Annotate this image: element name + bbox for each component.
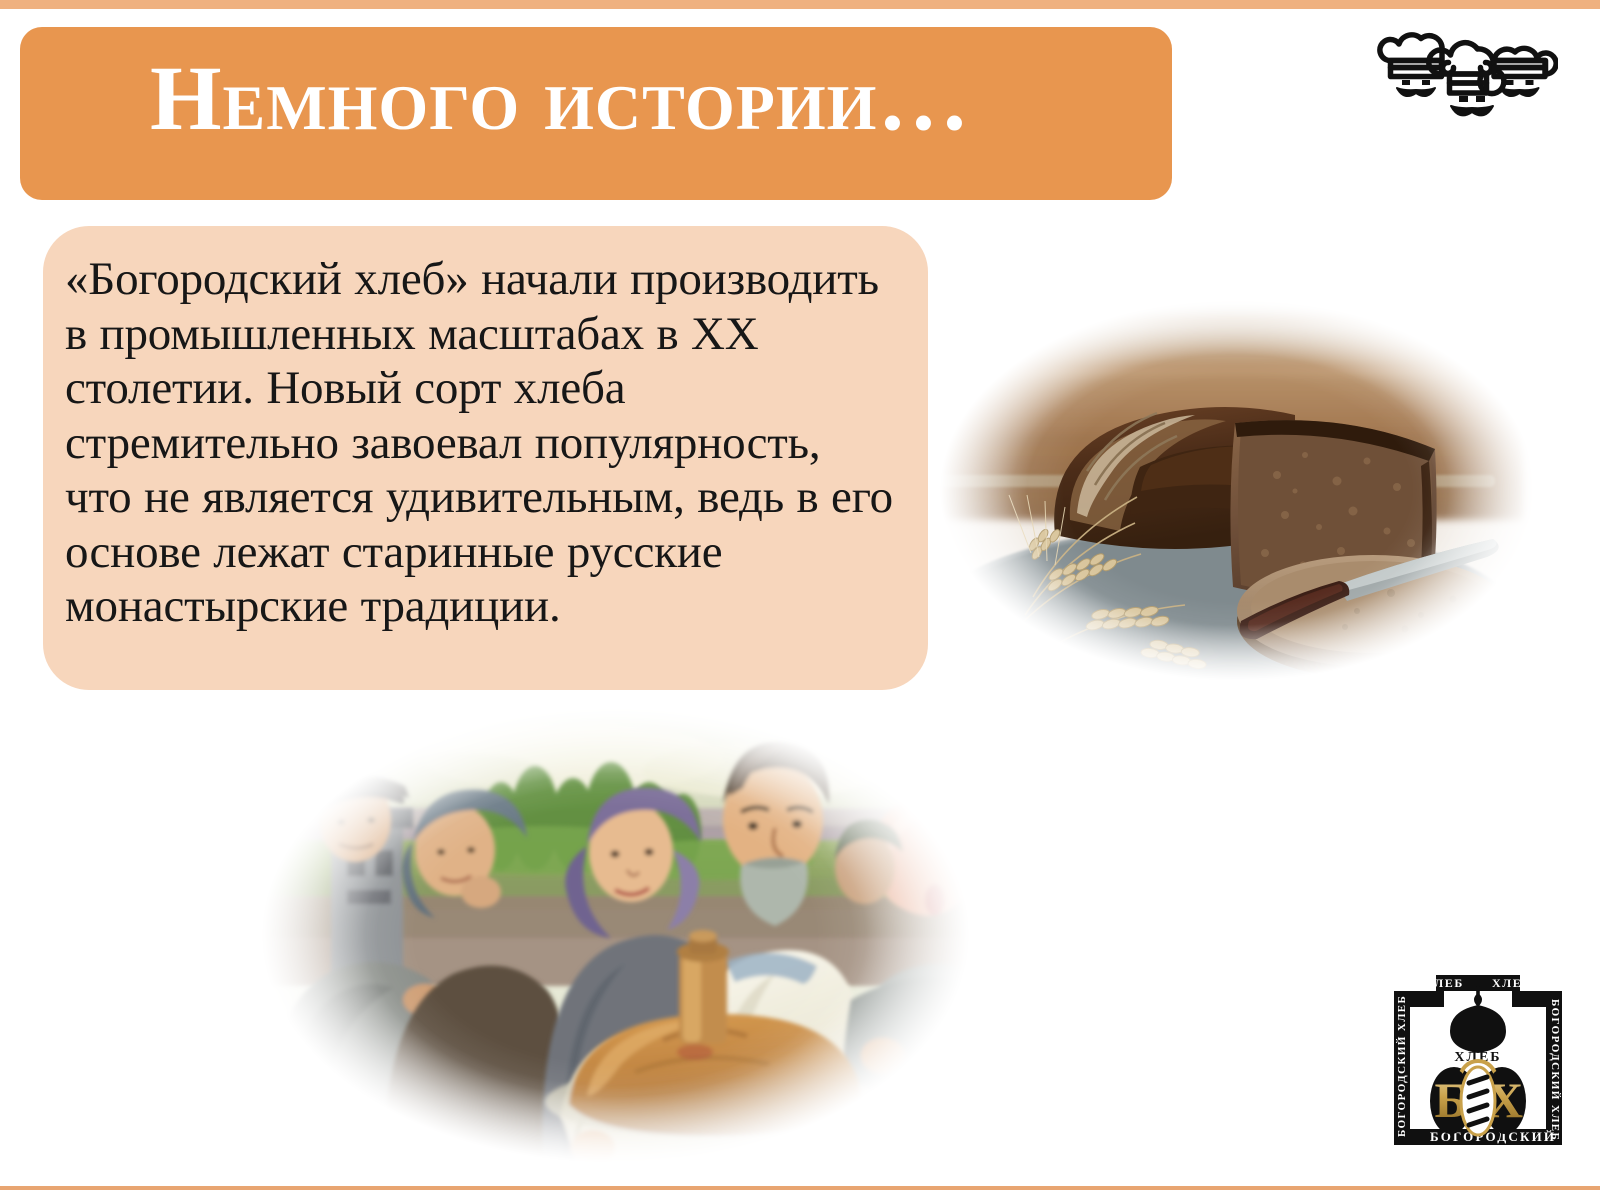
bogorodsky-khleb-logo: ХЛЕБ ХЛЕБ БОГОРОДСКИЙ БОГОРОДСКИЙ ХЛЕБ Б… xyxy=(1372,945,1584,1157)
slide-root: Немного истории… xyxy=(0,0,1600,1200)
logo-top-left-label: ХЛЕБ xyxy=(1424,976,1464,990)
body-text-card: «Богородский хлеб» начали производить в … xyxy=(43,226,928,690)
svg-text:ХЛЕБ: ХЛЕБ xyxy=(1492,976,1532,990)
svg-text:БОГОРОДСКИЙ ХЛЕБ: БОГОРОДСКИЙ ХЛЕБ xyxy=(1396,995,1408,1137)
bottom-accent-strip xyxy=(0,1186,1600,1190)
page-title: Немного истории… xyxy=(150,50,1150,147)
russian-peasants-bread-and-salt-painting xyxy=(243,700,988,1170)
rye-bread-loaf-photo xyxy=(905,285,1545,695)
body-paragraph: «Богородский хлеб» начали производить в … xyxy=(65,252,898,634)
three-chef-hats-icon xyxy=(1376,22,1558,120)
svg-text:БОГОРОДСКИЙ ХЛЕБ: БОГОРОДСКИЙ ХЛЕБ xyxy=(1549,999,1561,1141)
top-accent-strip xyxy=(0,0,1600,9)
